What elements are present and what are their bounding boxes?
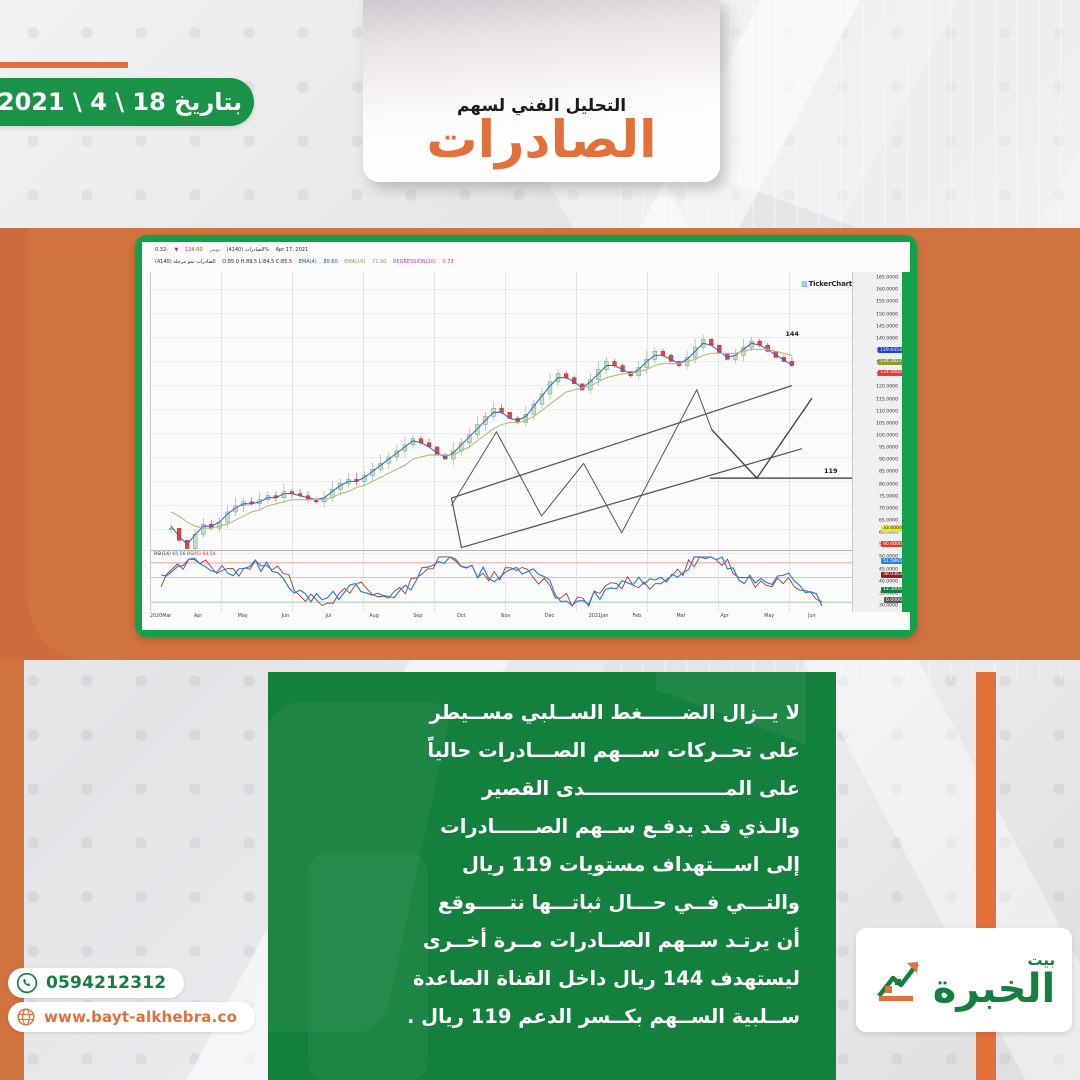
- right-orange-bar-top: [976, 672, 996, 972]
- chart-ohlc: O:85.0 H:89.5 L:84.5 C:85.5: [222, 259, 292, 265]
- rsi14-value: 65.56: [172, 552, 185, 557]
- price-axis-tick: 85.0000: [879, 470, 898, 475]
- analysis-line: على تحــركات ســـهم الصـــادرات حالياً: [304, 732, 800, 770]
- time-axis-tick: Jul: [326, 614, 332, 619]
- volume-tag: 33.0000: [881, 526, 904, 532]
- price-tag: 124.0000: [878, 370, 904, 376]
- rsi14-label: RSI(14): [154, 552, 171, 557]
- price-axis-tick: 90.0000: [879, 458, 898, 463]
- analysis-line: والتـــي فــي حـــال ثباتـــها نتـــــوق…: [304, 884, 800, 922]
- price-axis-tick: 30.0000: [879, 603, 898, 608]
- chart-ema18-label: EMA(18): [344, 259, 365, 265]
- rsi-tag: 12.3000: [881, 587, 904, 593]
- time-axis-tick: May: [238, 614, 248, 619]
- chart-ema4-value: 80.60: [323, 259, 337, 265]
- analysis-panel: لا يــزال الضــــــغط الســلبي مســيطرعل…: [268, 672, 836, 1080]
- analysis-line: ســلبية الســهم بكــسر الدعم 119 ريال .: [304, 998, 800, 1036]
- whatsapp-contact-pill[interactable]: 0594212312: [8, 968, 184, 998]
- price-axis-tick: 95.0000: [879, 446, 898, 451]
- company-logo[interactable]: بيت الخبرة: [856, 928, 1072, 1032]
- whatsapp-icon: [16, 972, 38, 994]
- rsi-header: RSI(14) 65.56 RSI(5) 64.54: [154, 552, 216, 557]
- rsi-tag: 90.0000: [881, 541, 904, 547]
- phone-number: 0594212312: [46, 973, 166, 993]
- price-axis-tick: 150.0000: [876, 312, 898, 317]
- chart-symbol-name: الصادرات (4140): [227, 247, 265, 253]
- price-axis-tick: 40.0000: [879, 579, 898, 584]
- price-axis-tick: 105.0000: [876, 421, 898, 426]
- rsi5-value: 64.54: [202, 552, 215, 557]
- price-axis-tick: 120.0000: [876, 385, 898, 390]
- chart-canvas[interactable]: الصادرات (4140) يومي 124.00 ▼ -0.32% Apr…: [142, 242, 910, 630]
- price-tag: 124.2617: [878, 359, 904, 365]
- axis-green-strip: [902, 272, 910, 612]
- growth-arrow-icon: [873, 952, 929, 1008]
- time-axis-tick: Jun: [808, 614, 816, 619]
- price-axis-tick: 100.0000: [876, 433, 898, 438]
- analysis-line: إلى اســـتهداف مستويات 119 ريال: [304, 846, 800, 884]
- price-axis-tick: 80.0000: [879, 482, 898, 487]
- chart-date: Apr 17, 2021: [276, 247, 309, 253]
- annotation-target-144: 144: [785, 330, 799, 338]
- time-axis-tick: Apr: [720, 614, 728, 619]
- rsi-tag: 38.0363: [881, 572, 904, 578]
- analysis-line: أن يرتـد ســهم الصــادرات مــرة أخــرى: [304, 922, 800, 960]
- analysis-line: على المـــــــــــــــــــــدى القصير: [304, 770, 800, 808]
- price-axis-tick: 155.0000: [876, 300, 898, 305]
- price-axis-tick: 165.0000: [876, 276, 898, 281]
- chart-header-line-2: الصادرات نمو مرحلة (4140) O:85.0 H:89.5 …: [150, 259, 454, 265]
- time-axis-tick: Nov: [501, 614, 510, 619]
- rsi-tag: 0.0000: [884, 597, 904, 603]
- analysis-line: لا يــزال الضــــــغط الســلبي مســيطر: [304, 694, 800, 732]
- analysis-line: ليستهدف 144 ريال داخل القناة الصاعدة: [304, 960, 800, 998]
- time-axis-tick: Feb: [633, 614, 642, 619]
- price-axis-tick: 115.0000: [876, 397, 898, 402]
- time-axis-tick: Jun: [282, 614, 290, 619]
- price-axis-tick: 75.0000: [879, 494, 898, 499]
- trend-annotation-svg: [151, 272, 852, 577]
- price-tag: 129.6454: [878, 347, 904, 353]
- rsi5-label: RSI(5): [187, 552, 201, 557]
- rsi-chart-svg: [151, 551, 852, 612]
- title-card: التحليل الفني لسهم الصادرات: [363, 0, 720, 182]
- chart-regression-label: REGRESSION(20): [393, 259, 436, 265]
- time-axis-tick: 2021Jan: [589, 614, 609, 619]
- chart-symbol-secondary: الصادرات نمو مرحلة (4140): [155, 259, 216, 265]
- time-axis-tick: 2020Mar: [150, 614, 171, 619]
- top-orange-accent-line: [0, 62, 128, 68]
- website-url: www.bayt-alkhebra.co: [44, 1008, 237, 1026]
- logo-main-text: الخبرة: [933, 969, 1055, 1009]
- price-axis-tick: 70.0000: [879, 506, 898, 511]
- rsi-tag: 51.5865: [881, 558, 904, 564]
- time-axis: 2020MarAprMayJunJulAugSepOctNovDec2021Ja…: [150, 614, 852, 626]
- time-axis-tick: Apr: [194, 614, 202, 619]
- time-axis-tick: Oct: [457, 614, 465, 619]
- chart-header-line-1: الصادرات (4140) يومي 124.00 ▼ -0.32% Apr…: [150, 247, 308, 253]
- rsi-indicator-panel[interactable]: RSI(14) 65.56 RSI(5) 64.54: [150, 550, 852, 612]
- website-contact-pill[interactable]: www.bayt-alkhebra.co: [8, 1002, 255, 1032]
- chart-frame: الصادرات (4140) يومي 124.00 ▼ -0.32% Apr…: [135, 235, 917, 637]
- analysis-text: لا يــزال الضــــــغط الســلبي مســيطرعل…: [268, 672, 836, 1036]
- chart-ema4-label: EMA(4): [299, 259, 317, 265]
- chart-timeframe: يومي: [209, 247, 220, 253]
- price-axis-tick: 140.0000: [876, 336, 898, 341]
- date-badge: بتاريخ 18 \ 4 \ 2021: [0, 78, 254, 126]
- annotation-support-119: 119: [824, 467, 838, 475]
- chart-regression-value: 0.73: [442, 259, 453, 265]
- price-axis-tick: 110.0000: [876, 409, 898, 414]
- price-axis-tick: 65.0000: [879, 518, 898, 523]
- globe-icon: [16, 1007, 36, 1027]
- time-axis-tick: Dec: [545, 614, 554, 619]
- chart-change-arrow-icon: ▼: [175, 247, 179, 253]
- analysis-line: والـذي قـد يدفـع ســهم الصــــــادرات: [304, 808, 800, 846]
- price-axis-tick: 160.0000: [876, 288, 898, 293]
- price-plot-area[interactable]: 144 119: [150, 272, 852, 578]
- time-axis-tick: Mar: [677, 614, 686, 619]
- page-title: الصادرات: [426, 114, 656, 168]
- chart-ema18-value: 71.00: [372, 259, 386, 265]
- chart-last-price: 124.00: [185, 247, 203, 253]
- time-axis-tick: Aug: [369, 614, 378, 619]
- price-axis-tick: 145.0000: [876, 324, 898, 329]
- time-axis-tick: Sep: [413, 614, 422, 619]
- time-axis-tick: May: [764, 614, 774, 619]
